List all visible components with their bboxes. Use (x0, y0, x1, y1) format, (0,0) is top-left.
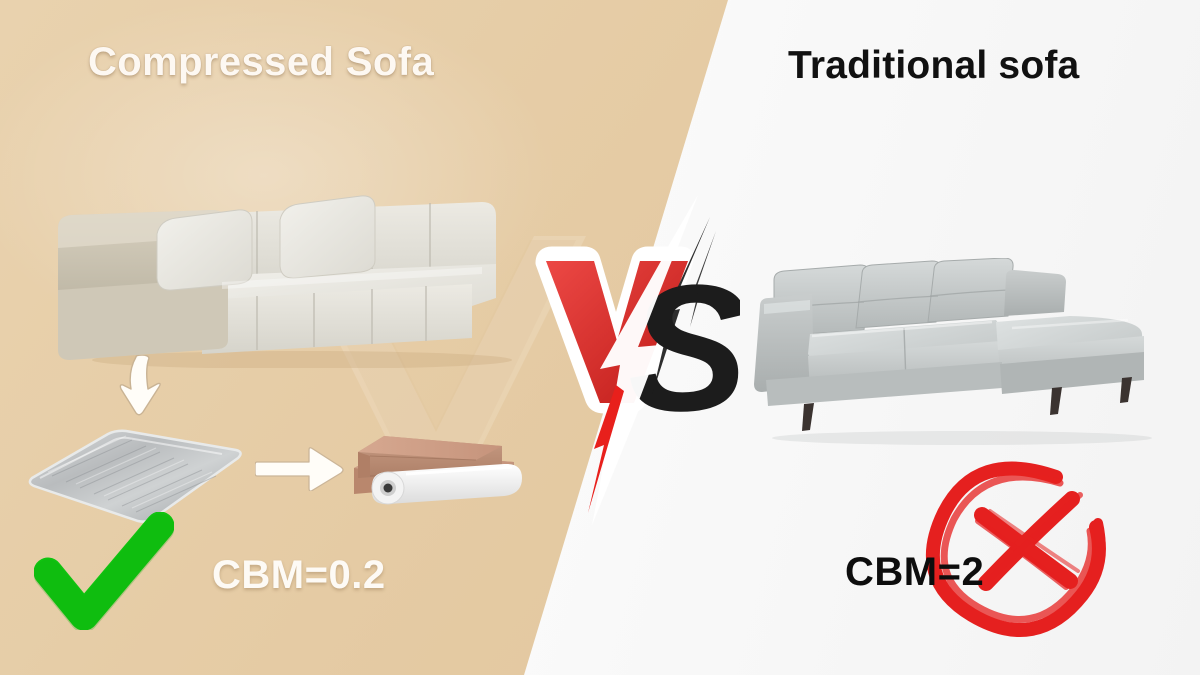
comparison-graphic: Compressed Sofa (0, 0, 1200, 675)
right-panel-title: Traditional sofa (788, 44, 1079, 88)
right-cbm-label: CBM=2 (845, 550, 984, 595)
left-panel-title: Compressed Sofa (88, 40, 434, 85)
left-cbm-label: CBM=0.2 (212, 553, 386, 598)
